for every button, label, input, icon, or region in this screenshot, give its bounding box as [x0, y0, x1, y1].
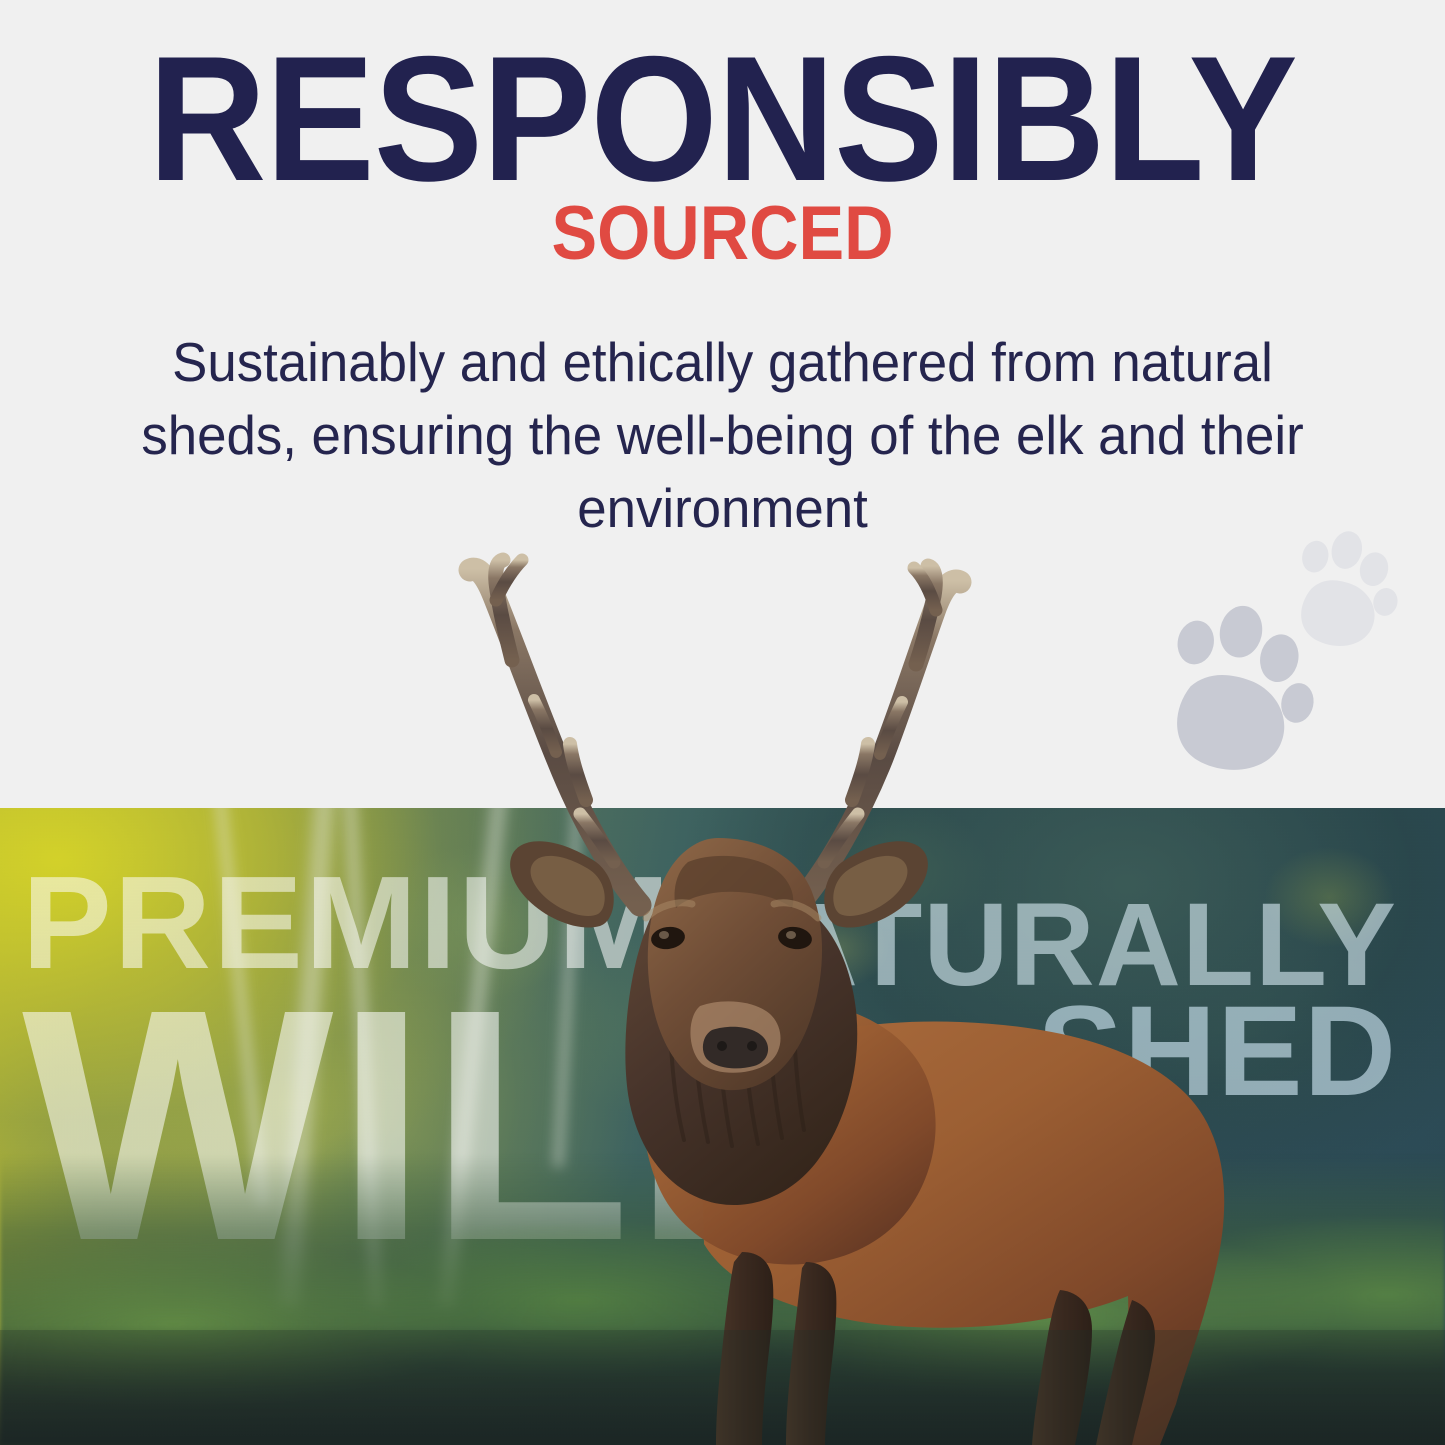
description-paragraph: Sustainably and ethically gathered from …: [120, 326, 1325, 545]
grass-shadow: [0, 1325, 1445, 1445]
page-title: RESPONSIBLY: [58, 42, 1387, 195]
product-feature-poster: RESPONSIBLY SOURCED Sustainably and ethi…: [0, 0, 1445, 1445]
page-subtitle: SOURCED: [72, 196, 1373, 272]
paw-prints-decoration: [1170, 520, 1420, 770]
forest-photo-band: PREMIUM WILD NATURALLY SHED: [0, 808, 1445, 1445]
paw-print-small-icon: [1283, 521, 1412, 658]
